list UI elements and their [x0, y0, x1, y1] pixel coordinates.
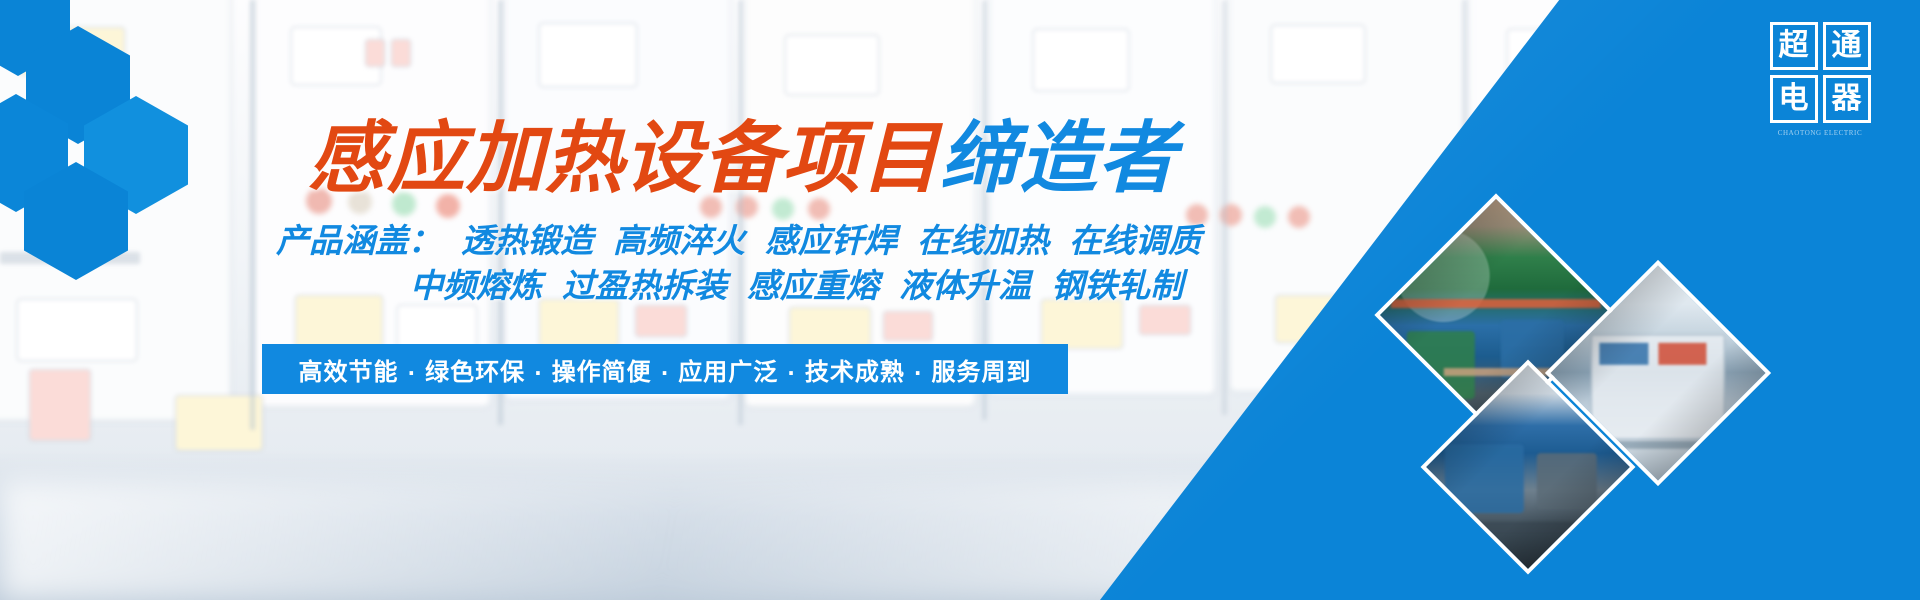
- product-item: 在线加热: [917, 221, 1049, 260]
- bg-card: [18, 300, 136, 360]
- product-photo-group: [1390, 205, 1810, 535]
- headline: 感应加热设备项目缔造者: [308, 120, 1177, 198]
- logo-character-grid: 超 通 电 器: [1770, 22, 1871, 123]
- ribbon-item: 操作简便: [552, 358, 652, 386]
- ribbon-separator: ·: [652, 361, 679, 385]
- product-item: 高频淬火: [613, 221, 745, 260]
- logo-char-4: 器: [1823, 75, 1871, 123]
- hexagon-decoration: [0, 0, 230, 260]
- bg-card: [30, 370, 90, 440]
- promo-banner: 超 通 电 器 CHAOTONG ELECTRIC: [0, 0, 1920, 600]
- ribbon-separator: ·: [398, 361, 425, 385]
- benefits-ribbon: 高效节能·绿色环保·操作简便·应用广泛·技术成熟·服务周到: [262, 344, 1068, 394]
- product-item: 液体升温: [899, 266, 1031, 305]
- bg-lamp: [1288, 206, 1310, 228]
- product-item: 感应钎焊: [765, 221, 897, 260]
- product-item: 在线调质: [1069, 221, 1201, 260]
- ribbon-separator: ·: [778, 361, 805, 385]
- ribbon-separator: ·: [525, 361, 552, 385]
- headline-accent: 缔造者: [940, 114, 1177, 204]
- bg-edge: [1222, 0, 1227, 415]
- product-item: 中频熔炼: [410, 266, 542, 305]
- headline-primary: 感应加热设备项目: [308, 114, 940, 204]
- product-item: 透热锻造: [461, 221, 593, 260]
- ribbon-item: 高效节能: [298, 358, 398, 386]
- logo-char-1: 超: [1770, 22, 1818, 70]
- product-item: 感应重熔: [747, 266, 879, 305]
- product-line-2: 中频熔炼过盈热拆装感应重熔液体升温钢铁轧制: [410, 269, 1183, 302]
- bg-card: [1272, 26, 1364, 82]
- bg-lamp: [1254, 206, 1276, 228]
- logo-char-3: 电: [1770, 75, 1818, 123]
- product-item: 过盈热拆装: [562, 266, 727, 305]
- product-line-1: 产品涵盖：透热锻造高频淬火感应钎焊在线加热在线调质: [276, 224, 1201, 257]
- ribbon-item: 技术成熟: [805, 358, 905, 386]
- ribbon-item: 应用广泛: [678, 358, 778, 386]
- product-line-label: 产品涵盖：: [276, 221, 441, 260]
- benefits-ribbon-text: 高效节能·绿色环保·操作简便·应用广泛·技术成熟·服务周到: [298, 352, 1031, 387]
- logo-subtitle: CHAOTONG ELECTRIC: [1778, 129, 1863, 137]
- ribbon-item: 服务周到: [932, 358, 1032, 386]
- banner-content: 感应加热设备项目缔造者 产品涵盖：透热锻造高频淬火感应钎焊在线加热在线调质 中频…: [262, 0, 1122, 600]
- ribbon-separator: ·: [905, 361, 932, 385]
- logo-char-2: 通: [1823, 22, 1871, 70]
- bg-edge: [250, 0, 255, 430]
- company-logo: 超 通 电 器 CHAOTONG ELECTRIC: [1764, 22, 1876, 137]
- ribbon-item: 绿色环保: [425, 358, 525, 386]
- bg-card: [1140, 306, 1190, 334]
- product-item: 钢铁轧制: [1051, 266, 1183, 305]
